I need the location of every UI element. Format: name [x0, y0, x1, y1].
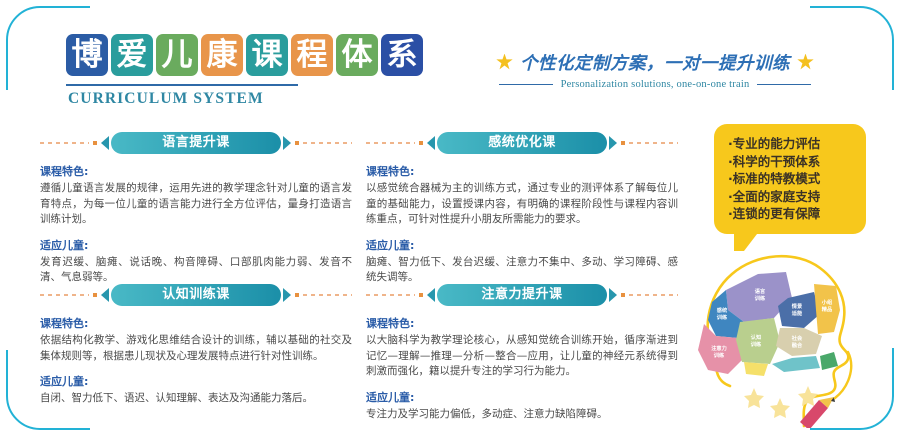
- label-cognition-1: 认知: [751, 333, 761, 341]
- label-language-2: 训练: [755, 294, 766, 302]
- course-card[interactable]: 语言提升课课程特色:遵循儿童语言发展的规律，运用先进的教学理念针对儿童的语言发育…: [40, 132, 364, 284]
- label-cognition-2: 训练: [751, 340, 762, 348]
- feature-label: 课程特色:: [40, 315, 352, 331]
- dot-marker-right: [295, 141, 299, 145]
- arrow-right-icon: [609, 136, 617, 150]
- slogan-text: 个性化定制方案，一对一提升训练: [520, 50, 790, 75]
- dotted-line-left: [366, 142, 415, 144]
- course-title[interactable]: 认知训练课: [111, 284, 281, 306]
- feature-label: 课程特色:: [366, 315, 678, 331]
- suitable-label: 适应儿童:: [40, 237, 352, 253]
- label-sensory-1: 感统: [717, 306, 728, 314]
- piece-accent-1: [772, 356, 820, 372]
- arrow-left-icon: [427, 136, 435, 150]
- brain-puzzle-illustration: 语言 训练 感统 训练 注意力 训练 认知 训练 情景 适能 社会 融合 小组 …: [688, 240, 888, 428]
- highlight-item: ·科学的干预体系: [728, 153, 856, 171]
- label-attention-1: 注意力: [711, 344, 727, 352]
- brand-char-8: 系: [381, 34, 423, 76]
- course-grid: 语言提升课课程特色:遵循儿童语言发展的规律，运用先进的教学理念针对儿童的语言发育…: [40, 132, 690, 420]
- sparkle-stars: [744, 386, 818, 418]
- piece-accent-3: [744, 362, 768, 376]
- course-header: 语言提升课: [40, 132, 352, 154]
- course-header: 感统优化课: [366, 132, 678, 154]
- label-group-2: 精品: [822, 305, 832, 313]
- dotted-line-left: [40, 294, 89, 296]
- brand-char-7: 体: [336, 34, 378, 76]
- suitable-label: 适应儿童:: [40, 373, 352, 389]
- suitable-text: 脑瘫、智力低下、发台迟缓、注意力不集中、多动、学习障碍、感统失调等。: [366, 255, 678, 286]
- dot-marker-left: [93, 141, 97, 145]
- arrow-left-icon: [427, 288, 435, 302]
- dotted-line-right: [629, 142, 678, 144]
- course-card[interactable]: 注意力提升课课程特色:以大脑科学为教学理论核心，从感知觉统合训练开始，循序渐进到…: [366, 284, 690, 420]
- brand-char-2: 爱: [111, 34, 153, 76]
- dot-marker-left: [419, 293, 423, 297]
- dotted-line-right: [303, 294, 352, 296]
- course-title[interactable]: 注意力提升课: [437, 284, 607, 306]
- dotted-line-left: [40, 142, 89, 144]
- course-header: 认知训练课: [40, 284, 352, 306]
- label-language-1: 语言: [755, 287, 766, 295]
- feature-text: 依据结构化教学、游戏化思维结合设计的训练，辅以基础的社交及集体规则等，根据患儿现…: [40, 333, 352, 364]
- arrow-right-icon: [609, 288, 617, 302]
- star-icon-left: [496, 54, 513, 71]
- slogan-rule-right: [757, 84, 811, 86]
- brand-char-4: 康: [201, 34, 243, 76]
- suitable-label: 适应儿童:: [366, 237, 678, 253]
- sparkle-2: [770, 398, 790, 418]
- slogan-rule-left: [499, 84, 553, 86]
- dot-marker-right: [621, 141, 625, 145]
- feature-label: 课程特色:: [366, 163, 678, 179]
- feature-label: 课程特色:: [40, 163, 352, 179]
- slogan-block: 个性化定制方案，一对一提升训练 Personalization solution…: [470, 48, 840, 90]
- slogan-subtitle: Personalization solutions, one-on-one tr…: [561, 79, 750, 90]
- course-header: 注意力提升课: [366, 284, 678, 306]
- piece-social: [776, 328, 822, 356]
- sparkle-1: [744, 388, 764, 408]
- label-social-2: 融合: [792, 341, 803, 349]
- dot-marker-left: [93, 293, 97, 297]
- feature-text: 遵循儿童语言发展的规律，运用先进的教学理念针对儿童的语言发育特点，为每一位儿童的…: [40, 181, 352, 228]
- highlight-item: ·全面的家庭支持: [728, 188, 856, 206]
- label-scenario-1: 情景: [791, 302, 803, 310]
- slogan-line: 个性化定制方案，一对一提升训练: [470, 48, 840, 76]
- course-card[interactable]: 感统优化课课程特色:以感觉统合器械为主的训练方式，通过专业的测评体系了解每位儿童…: [366, 132, 690, 284]
- course-title[interactable]: 感统优化课: [437, 132, 607, 154]
- highlight-item: ·专业的能力评估: [728, 135, 856, 153]
- brand-char-1: 博: [66, 34, 108, 76]
- brand-char-5: 课: [246, 34, 288, 76]
- brand-char-3: 儿: [156, 34, 198, 76]
- sparkle-3: [798, 386, 818, 406]
- dot-marker-right: [621, 293, 625, 297]
- frame-mask-left: [0, 90, 14, 350]
- brand-title: 博爱儿康课程体系: [66, 34, 423, 76]
- arrow-left-icon: [101, 288, 109, 302]
- highlights-bubble: ·专业的能力评估·科学的干预体系·标准的特教模式·全面的家庭支持·连锁的更有保障: [714, 124, 866, 234]
- label-attention-2: 训练: [714, 351, 725, 359]
- dot-marker-left: [419, 141, 423, 145]
- brand-subtitle: CURRICULUM SYSTEM: [68, 90, 264, 108]
- dotted-line-right: [303, 142, 352, 144]
- arrow-right-icon: [283, 136, 291, 150]
- label-group-1: 小组: [822, 298, 833, 306]
- course-card[interactable]: 认知训练课课程特色:依据结构化教学、游戏化思维结合设计的训练，辅以基础的社交及集…: [40, 284, 364, 420]
- label-social-1: 社会: [791, 334, 803, 342]
- feature-text: 以大脑科学为教学理论核心，从感知觉统合训练开始，循序渐进到记忆—理解—推理—分析…: [366, 333, 678, 380]
- suitable-text: 发育迟缓、脑瘫、说话晚、构音障碍、口部肌肉能力弱、发音不清、气息弱等。: [40, 255, 352, 286]
- star-icon-right: [797, 54, 814, 71]
- brand-char-6: 程: [291, 34, 333, 76]
- frame-mask-right: [886, 90, 900, 348]
- label-scenario-2: 适能: [792, 309, 803, 317]
- suitable-text: 自闭、智力低下、语迟、认知理解、表达及沟通能力落后。: [40, 391, 352, 407]
- label-sensory-2: 训练: [717, 313, 728, 321]
- suitable-text: 专注力及学习能力偏低，多动症、注意力缺陷障碍。: [366, 407, 678, 423]
- highlight-item: ·连锁的更有保障: [728, 205, 856, 223]
- arrow-left-icon: [101, 136, 109, 150]
- highlight-item: ·标准的特教模式: [728, 170, 856, 188]
- dotted-line-left: [366, 294, 415, 296]
- suitable-label: 适应儿童:: [366, 389, 678, 405]
- piece-accent-2: [820, 352, 838, 370]
- dot-marker-right: [295, 293, 299, 297]
- piece-cognition: [736, 318, 780, 364]
- right-column: ·专业的能力评估·科学的干预体系·标准的特教模式·全面的家庭支持·连锁的更有保障: [696, 118, 886, 428]
- arrow-right-icon: [283, 288, 291, 302]
- brain-svg: 语言 训练 感统 训练 注意力 训练 认知 训练 情景 适能 社会 融合 小组 …: [688, 240, 888, 428]
- dotted-line-right: [629, 294, 678, 296]
- brand-underline: [66, 84, 298, 86]
- course-title[interactable]: 语言提升课: [111, 132, 281, 154]
- feature-text: 以感觉统合器械为主的训练方式，通过专业的测评体系了解每位儿童的基础能力，设置授课…: [366, 181, 678, 228]
- page-header: 博爱儿康课程体系 CURRICULUM SYSTEM 个性化定制方案，一对一提升…: [0, 0, 900, 118]
- slogan-subtitle-row: Personalization solutions, one-on-one tr…: [470, 79, 840, 90]
